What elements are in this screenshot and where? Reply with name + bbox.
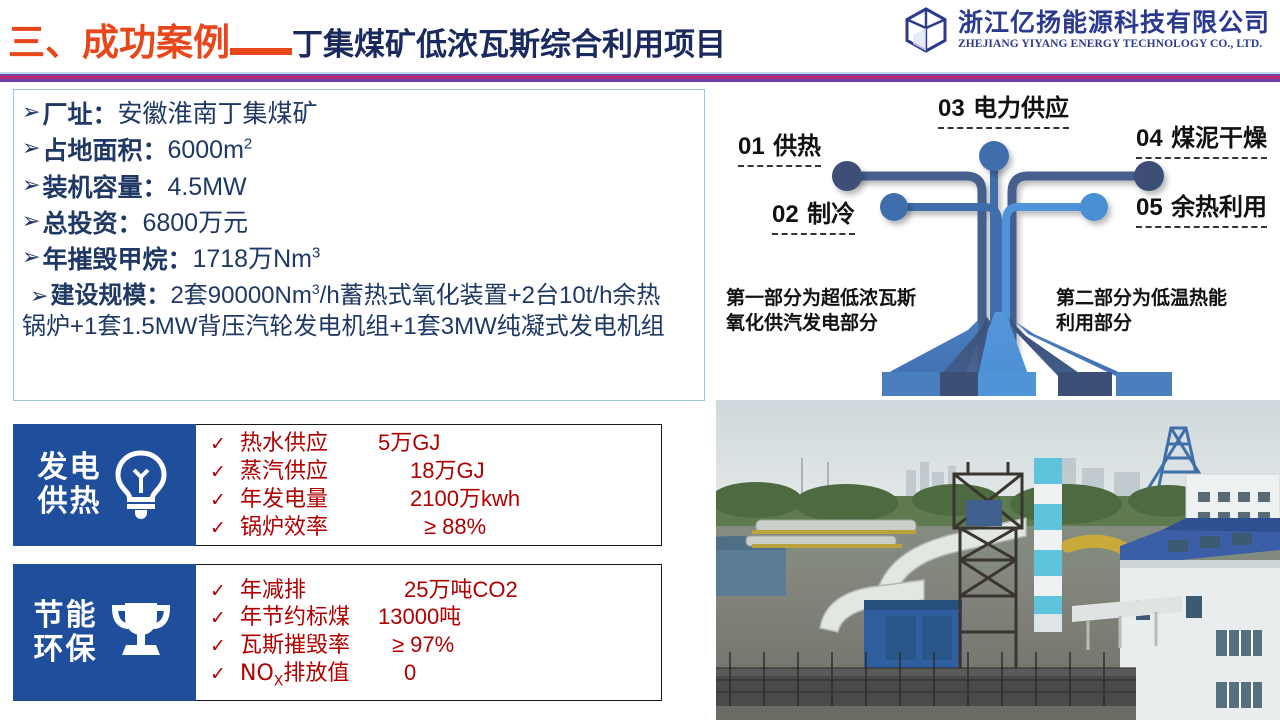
info-label: 年摧毁甲烷： [42,244,192,275]
node-05-dot [1080,193,1108,221]
construction-scale-text-b: /h蓄热式氧化装置+2台10t/h余热 [320,282,661,309]
diagram-note-left: 第一部分为超低浓瓦斯 氧化供汽发电部分 [726,286,916,335]
hexagon-cube-logo-icon [903,6,949,54]
list-item: ✓ 蒸汽供应 18万GJ [210,458,661,486]
page-title: 三、成功案例 丁集煤矿低浓瓦斯综合利用项目 [8,12,726,66]
feature-value: ≥ 97% [392,632,454,659]
list-item: ✓ 锅炉效率 ≥ 88% [210,514,661,542]
page-title-sub: 丁集煤矿低浓瓦斯综合利用项目 [292,19,726,64]
feature-name: 年发电量 [240,487,378,514]
arrow-bullet-icon: ➢ [22,102,40,124]
list-item: ✓ 年减排 25万吨CO2 [210,577,661,605]
feature-name: 瓦斯摧毁率 [240,633,378,660]
diagram-label-05: 05 余热利用 [1136,187,1267,228]
check-icon: ✓ [210,663,240,686]
feature-value: 2100万kwh [410,486,520,513]
list-item: ➢ 总投资： 6800万元 [22,208,704,239]
list-item: ➢ 占地面积： 6000m2 [22,135,704,166]
list-item: ✓ 瓦斯摧毁率 ≥ 97% [210,632,661,660]
list-item: ➢ 厂址： 安徽淮南丁集煤矿 [22,99,704,130]
feature-name: 蒸汽供应 [240,459,378,486]
feature-list-power: ✓ 热水供应 5万GJ ✓ 蒸汽供应 18万GJ ✓ 年发电量 2100万kwh… [196,424,662,546]
feature-block-energy: 节能环保 ✓ 年减排 25万吨CO2 ✓ 年节约标煤 [13,564,662,701]
check-icon: ✓ [210,607,240,630]
list-item: ✓ 年发电量 2100万kwh [210,486,661,514]
feature-block-power: 发电供热 ✓ 热水供应 5万GJ ✓ 蒸汽供应 18万 [13,424,662,546]
list-item: ✓ NOX排放值 0 [210,660,661,690]
check-icon: ✓ [210,461,240,484]
feature-name-nox: NOX排放值 [240,661,378,690]
info-value: 安徽淮南丁集煤矿 [117,99,317,130]
trophy-icon [106,597,176,668]
plant-photo-graphic [716,400,1280,720]
feature-badge-text-energy: 节能环保 [34,599,98,666]
list-item: ➢ 装机容量： 4.5MW [22,172,704,203]
slide-header: 三、成功案例 丁集煤矿低浓瓦斯综合利用项目 浙江亿扬能源科技有限公司 ZHEJI… [0,0,1280,80]
company-name-en: ZHEJIANG YIYANG ENERGY TECHNOLOGY CO., L… [958,39,1270,51]
project-info-panel: ➢ 厂址： 安徽淮南丁集煤矿 ➢ 占地面积： 6000m2 ➢ 装机容量： 4.… [13,89,705,401]
feature-name: 年减排 [240,578,378,605]
company-logo: 浙江亿扬能源科技有限公司 ZHEJIANG YIYANG ENERGY TECH… [903,6,1270,54]
construction-scale-item: ➢建设规模：2套90000Nm3/h蓄热式氧化装置+2台10t/h余热 锅炉+1… [22,280,704,342]
feature-value: 18万GJ [410,458,485,485]
feature-badge-power: 发电供热 [13,424,196,546]
energy-flow-diagram: 01 供热 02 制冷 03 电力供应 04 煤泥干燥 05 余热利用 第一部分… [716,84,1280,396]
list-item: ✓ 年节约标煤 13000吨 [210,604,661,632]
company-name-block: 浙江亿扬能源科技有限公司 ZHEJIANG YIYANG ENERGY TECH… [958,10,1270,51]
diagram-label-04: 04 煤泥干燥 [1136,118,1267,159]
check-icon: ✓ [210,433,240,456]
info-value: 1718万Nm3 [192,244,320,275]
list-item: ✓ 热水供应 5万GJ [210,430,661,458]
construction-scale-label: 建设规模： [50,281,170,309]
diagram-label-03: 03 电力供应 [938,88,1069,129]
info-label: 占地面积： [42,135,167,166]
project-info-list: ➢ 厂址： 安徽淮南丁集煤矿 ➢ 占地面积： 6000m2 ➢ 装机容量： 4.… [14,90,704,343]
info-value: 4.5MW [167,172,246,203]
feature-badge-text-power: 发电供热 [38,451,102,518]
arrow-bullet-icon: ➢ [22,175,40,197]
check-icon: ✓ [210,580,240,603]
node-03-dot [979,141,1009,171]
construction-scale-sup: 3 [312,281,320,297]
arrow-bullet-icon: ➢ [22,247,40,269]
check-icon: ✓ [210,517,240,540]
arrow-bullet-icon: ➢ [22,211,40,233]
feature-name: 热水供应 [240,431,378,458]
feature-value: 13000吨 [378,604,461,631]
slide-root: 三、成功案例 丁集煤矿低浓瓦斯综合利用项目 浙江亿扬能源科技有限公司 ZHEJI… [0,0,1280,720]
feature-value: 0 [404,660,416,687]
feature-value: 5万GJ [378,430,440,457]
node-01-dot [832,161,862,191]
construction-scale-text-a: 2套90000Nm [170,282,311,309]
feature-value: ≥ 88% [424,514,486,541]
info-value: 6800万元 [142,208,248,239]
feature-value: 25万吨CO2 [404,577,518,604]
list-item: ➢ 年摧毁甲烷： 1718万Nm3 [22,244,704,275]
diagram-label-01: 01 供热 [738,126,821,167]
info-label: 厂址： [42,99,117,130]
node-02-dot [880,193,908,221]
lightbulb-icon [110,447,172,524]
feature-badge-energy: 节能环保 [13,564,196,701]
info-value: 6000m2 [167,135,252,166]
company-name-cn: 浙江亿扬能源科技有限公司 [958,10,1270,35]
feature-list-energy: ✓ 年减排 25万吨CO2 ✓ 年节约标煤 13000吨 ✓ 瓦斯摧毁率 ≥ 9… [196,564,662,701]
arrow-bullet-icon: ➢ [22,138,40,160]
title-dash-icon [230,48,292,55]
info-label: 总投资： [42,208,142,239]
project-site-photo [716,400,1280,720]
check-icon: ✓ [210,635,240,658]
arrow-bullet-icon: ➢ [30,284,48,309]
header-divider [0,72,1280,82]
check-icon: ✓ [210,489,240,512]
feature-name: 年节约标煤 [240,605,378,632]
info-label: 装机容量： [42,172,167,203]
diagram-note-right: 第二部分为低温热能 利用部分 [1056,286,1227,335]
construction-scale-line2: 锅炉+1套1.5MW背压汽轮发电机组+1套3MW纯凝式发电机组 [22,311,700,342]
diagram-label-02: 02 制冷 [772,194,855,235]
feature-name: 锅炉效率 [240,515,378,542]
page-title-main: 三、成功案例 [8,12,230,66]
